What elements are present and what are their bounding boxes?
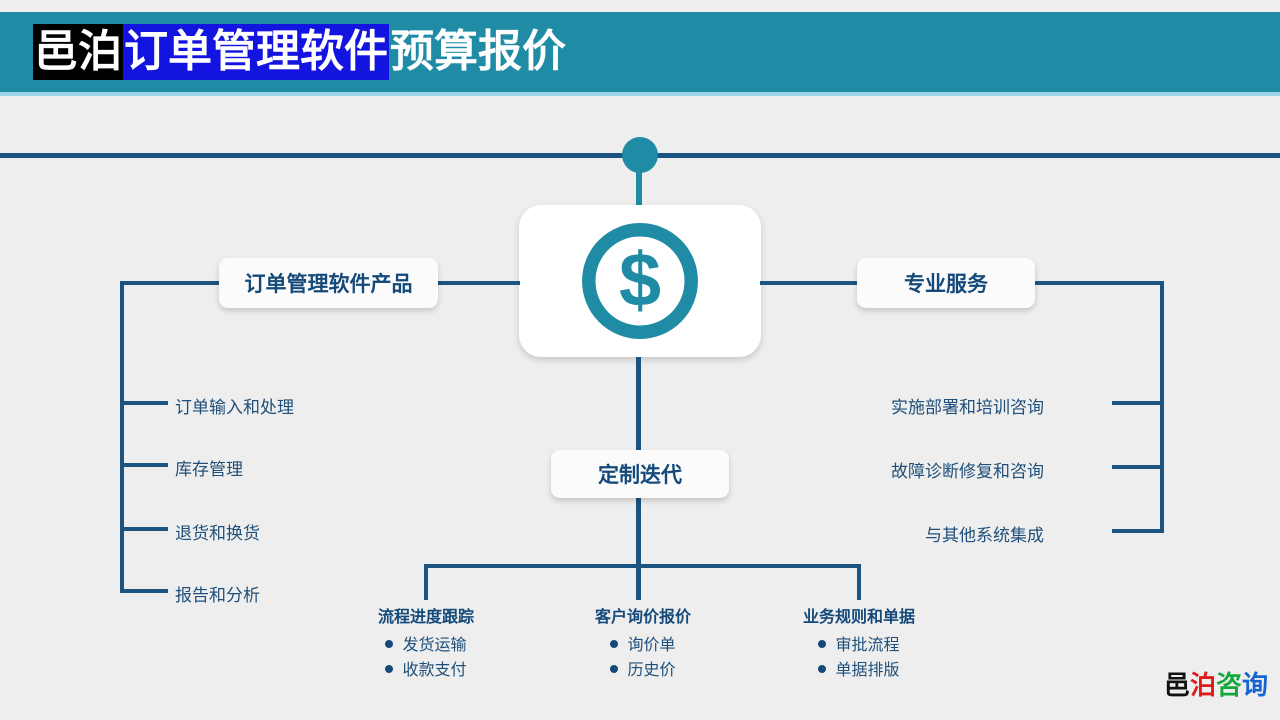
- bottom-group-3-list: 审批流程 单据排版: [818, 633, 899, 683]
- title-segment-topic: 预算报价: [389, 24, 567, 80]
- connector-center-to-product: [438, 281, 520, 285]
- title-segment-brand: 邑泊: [33, 24, 123, 80]
- bottom-group-2-item-2: 历史价: [627, 662, 675, 679]
- left-stub-4: [120, 589, 168, 593]
- bottom-group-3: 业务规则和单据 审批流程 单据排版: [744, 603, 974, 683]
- node-product-box[interactable]: 订单管理软件产品: [219, 258, 438, 308]
- logo-char-3: 咨: [1216, 670, 1242, 700]
- node-custom-box[interactable]: 定制迭代: [551, 450, 729, 498]
- bottom-group-1-list: 发货运输 收款支付: [385, 633, 466, 683]
- bottom-group-1-item-1: 发货运输: [402, 637, 466, 654]
- slide-root: 邑泊订单管理软件预算报价 $ 订单输入和处理 库存管理 退货和换货 报告和分析 …: [0, 0, 1280, 720]
- logo-char-2: 泊: [1190, 670, 1216, 700]
- bullet-icon: [818, 665, 826, 673]
- bottom-group-2-item-1: 询价单: [627, 637, 675, 654]
- bottom-group-3-item-1: 审批流程: [835, 637, 899, 654]
- connector-center-to-service: [760, 281, 858, 285]
- header-underline: [0, 92, 1280, 96]
- brand-logo: 邑泊咨询: [1164, 665, 1268, 702]
- bottom-group-1-title: 流程进度跟踪: [311, 603, 541, 627]
- right-spine-top-arm: [1034, 281, 1164, 285]
- bullet-icon: [610, 640, 618, 648]
- left-stub-1: [120, 401, 168, 405]
- svg-text:$: $: [619, 239, 661, 323]
- bottom-group-3-title: 业务规则和单据: [744, 603, 974, 627]
- logo-char-1: 邑: [1164, 670, 1190, 700]
- left-branch-item-2: 库存管理: [175, 455, 243, 480]
- bullet-icon: [610, 665, 618, 673]
- left-branch-item-1: 订单输入和处理: [175, 393, 294, 418]
- bottom-group-1: 流程进度跟踪 发货运输 收款支付: [311, 603, 541, 683]
- bottom-drop-1: [424, 564, 428, 600]
- bottom-group-1-item-2: 收款支付: [402, 662, 466, 679]
- right-spine-vertical: [1160, 281, 1164, 533]
- page-title: 邑泊订单管理软件预算报价: [33, 24, 567, 80]
- title-segment-product: 订单管理软件: [123, 24, 389, 80]
- list-item: 历史价: [610, 658, 675, 683]
- bottom-group-2-title: 客户询价报价: [528, 603, 758, 627]
- left-branch-item-3: 退货和换货: [175, 519, 260, 544]
- left-branch-item-4: 报告和分析: [175, 581, 260, 606]
- left-stub-2: [120, 463, 168, 467]
- center-icon-card: $: [519, 205, 761, 357]
- logo-char-4: 询: [1242, 670, 1268, 700]
- right-branch-item-3: 与其他系统集成: [925, 521, 1044, 546]
- left-spine-vertical: [120, 281, 124, 592]
- bottom-drop-3: [857, 564, 861, 600]
- left-stub-3: [120, 527, 168, 531]
- bullet-icon: [385, 640, 393, 648]
- right-stub-2: [1112, 465, 1164, 469]
- bottom-distribution-bar: [424, 564, 861, 568]
- right-branch-item-2: 故障诊断修复和咨询: [891, 457, 1044, 482]
- center-down-connector-lower: [636, 496, 641, 600]
- bottom-group-2: 客户询价报价 询价单 历史价: [528, 603, 758, 683]
- list-item: 发货运输: [385, 633, 466, 658]
- dollar-circle-icon: $: [579, 220, 701, 342]
- left-spine-top-arm: [120, 281, 222, 285]
- list-item: 询价单: [610, 633, 675, 658]
- center-down-connector-upper: [636, 357, 641, 452]
- right-stub-3: [1112, 529, 1164, 533]
- node-service-box[interactable]: 专业服务: [857, 258, 1035, 308]
- right-stub-1: [1112, 401, 1164, 405]
- bottom-group-2-list: 询价单 历史价: [610, 633, 675, 683]
- bottom-group-3-item-2: 单据排版: [835, 662, 899, 679]
- list-item: 单据排版: [818, 658, 899, 683]
- right-branch-item-1: 实施部署和培训咨询: [891, 393, 1044, 418]
- node-custom-label: 定制迭代: [598, 459, 682, 489]
- list-item: 收款支付: [385, 658, 466, 683]
- bullet-icon: [818, 640, 826, 648]
- node-service-label: 专业服务: [904, 268, 988, 298]
- bullet-icon: [385, 665, 393, 673]
- list-item: 审批流程: [818, 633, 899, 658]
- node-product-label: 订单管理软件产品: [245, 268, 413, 298]
